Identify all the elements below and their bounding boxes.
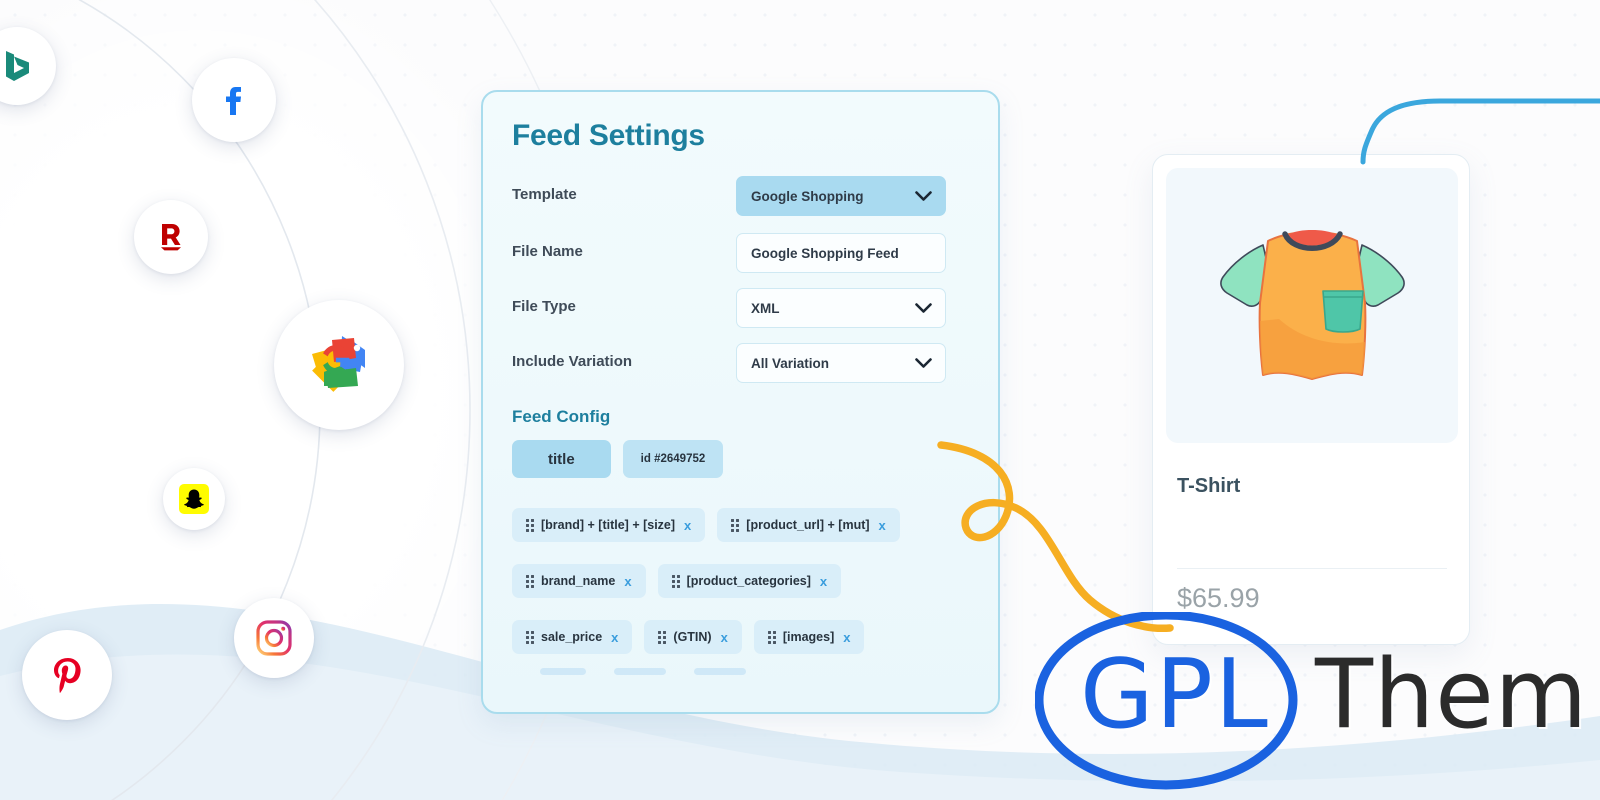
feed-settings-card: Feed Settings Template Google Shopping F… — [481, 90, 1000, 714]
google-shopping-icon[interactable] — [274, 300, 404, 430]
chip-label: [product_url] + [mut] — [746, 518, 869, 532]
form-row-include-variation: Include Variation All Variation — [512, 343, 974, 383]
file-name-input[interactable]: Google Shopping Feed — [736, 233, 946, 273]
drag-handle-icon[interactable] — [731, 519, 739, 532]
clipped-chip — [614, 668, 666, 675]
t-shirt-illustration — [1205, 211, 1420, 401]
chip-label: sale_price — [541, 630, 602, 644]
form-row-file-type: File Type XML — [512, 288, 974, 328]
chip-remove-icon[interactable]: x — [843, 630, 850, 645]
chip-remove-icon[interactable]: x — [879, 518, 886, 533]
instagram-glyph — [251, 615, 297, 661]
chevron-down-icon — [915, 358, 932, 369]
chip-product-url-mut[interactable]: [product_url] + [mut] x — [717, 508, 900, 542]
chip-remove-icon[interactable]: x — [721, 630, 728, 645]
drag-handle-icon[interactable] — [526, 631, 534, 644]
clipped-chip — [540, 668, 586, 675]
clipped-chip — [694, 668, 746, 675]
template-select[interactable]: Google Shopping — [736, 176, 946, 216]
bing-glyph — [0, 46, 37, 86]
label-file-name: File Name — [512, 243, 583, 260]
chip-label: brand_name — [541, 574, 615, 588]
field-chip-row: sale_price x (GTIN) x [images] x — [512, 620, 978, 654]
chip-remove-icon[interactable]: x — [820, 574, 827, 589]
chip-label: [product_categories] — [687, 574, 811, 588]
include-variation-select[interactable]: All Variation — [736, 343, 946, 383]
product-title: T-Shirt — [1177, 475, 1240, 498]
chip-title-label: title — [548, 451, 575, 468]
google-shopping-glyph — [302, 328, 376, 402]
drag-handle-icon[interactable] — [768, 631, 776, 644]
canvas: Feed Settings Template Google Shopping F… — [0, 0, 1600, 800]
facebook-glyph — [212, 78, 256, 122]
snapchat-icon[interactable] — [163, 468, 225, 530]
pinterest-icon[interactable] — [22, 630, 112, 720]
product-preview-card[interactable]: T-Shirt $65.99 — [1152, 154, 1470, 645]
facebook-icon[interactable] — [192, 58, 276, 142]
form-row-file-name: File Name Google Shopping Feed — [512, 233, 974, 273]
chip-brand-title-size[interactable]: [brand] + [title] + [size] x — [512, 508, 705, 542]
include-variation-select-value: All Variation — [751, 356, 829, 371]
drag-handle-icon[interactable] — [672, 575, 680, 588]
divider — [1177, 568, 1447, 569]
primary-chip-row: title id #2649752 — [512, 440, 978, 478]
chip-label: (GTIN) — [673, 630, 711, 644]
field-chip-row: [brand] + [title] + [size] x [product_ur… — [512, 508, 978, 542]
file-type-select[interactable]: XML — [736, 288, 946, 328]
chip-label: [images] — [783, 630, 834, 644]
drag-handle-icon[interactable] — [658, 631, 666, 644]
drag-handle-icon[interactable] — [526, 575, 534, 588]
product-price: $65.99 — [1177, 583, 1260, 614]
chip-id-badge[interactable]: id #2649752 — [623, 440, 724, 478]
label-file-type: File Type — [512, 298, 576, 315]
file-name-value: Google Shopping Feed — [751, 246, 899, 261]
chip-remove-icon[interactable]: x — [624, 574, 631, 589]
chip-images[interactable]: [images] x — [754, 620, 865, 654]
feed-config-heading: Feed Config — [512, 407, 610, 427]
chip-product-categories[interactable]: [product_categories] x — [658, 564, 842, 598]
rakuten-icon[interactable] — [134, 200, 208, 274]
snapchat-glyph — [176, 481, 212, 517]
chevron-down-icon — [915, 303, 932, 314]
chip-remove-icon[interactable]: x — [611, 630, 618, 645]
clipped-chip-row — [512, 668, 978, 675]
drag-handle-icon[interactable] — [526, 519, 534, 532]
pinterest-glyph — [42, 650, 92, 700]
form-row-template: Template Google Shopping — [512, 176, 974, 216]
chip-id-label: id #2649752 — [641, 453, 706, 465]
page-title: Feed Settings — [512, 119, 705, 153]
chip-sale-price[interactable]: sale_price x — [512, 620, 632, 654]
chip-label: [brand] + [title] + [size] — [541, 518, 675, 532]
chip-gtin[interactable]: (GTIN) x — [644, 620, 741, 654]
instagram-icon[interactable] — [234, 598, 314, 678]
field-chip-row: brand_name x [product_categories] x — [512, 564, 978, 598]
chip-remove-icon[interactable]: x — [684, 518, 691, 533]
template-select-value: Google Shopping — [751, 189, 863, 204]
chip-brand-name[interactable]: brand_name x — [512, 564, 646, 598]
label-template: Template — [512, 186, 577, 203]
label-include-variation: Include Variation — [512, 353, 632, 370]
feed-config-chip-area: title id #2649752 [brand] + [title] + [s… — [512, 440, 978, 675]
chevron-down-icon — [915, 191, 932, 202]
rakuten-glyph — [151, 217, 191, 257]
product-image — [1166, 168, 1458, 443]
file-type-select-value: XML — [751, 301, 780, 316]
chip-title[interactable]: title — [512, 440, 611, 478]
